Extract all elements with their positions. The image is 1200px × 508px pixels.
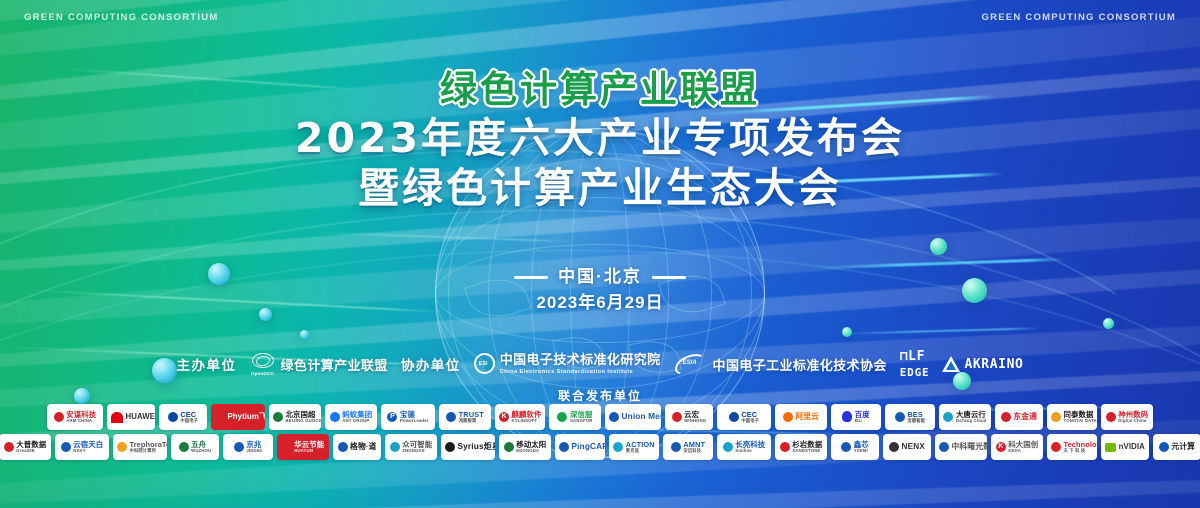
sponsor-logo-chip[interactable]: BES宝德智能 <box>885 404 935 430</box>
sponsor-name-en: ZHONGKE <box>402 449 432 454</box>
sponsor-name-en: WUZHOU <box>191 449 211 454</box>
sponsor-logo-chip[interactable]: PingCAP <box>555 434 605 460</box>
sponsor-logo-chip[interactable]: 华云节能HUAYUN <box>277 434 329 460</box>
cesi-mark-text: ESI <box>479 361 488 367</box>
sponsor-name-en: JING60 <box>246 449 262 454</box>
sponsor-logo-chip[interactable]: K麒麟软件KYLINSOFT <box>495 404 545 430</box>
sponsor-name: HUAWEI <box>126 413 156 421</box>
sponsor-name-en: TONGTAI DATA <box>1064 419 1097 424</box>
sponsor-logo-mark <box>215 412 225 422</box>
sponsor-logo-mark <box>282 442 292 452</box>
sponsor-logo-chip[interactable]: 众可智能ZHONGKE <box>385 434 437 460</box>
sponsor-name-en: SANGFOR <box>570 419 593 424</box>
decorative-sphere <box>1103 318 1114 329</box>
sponsor-name-en: 中国电子 <box>180 419 198 424</box>
sponsor-logo-mark <box>168 412 178 422</box>
sponsor-name: Syrius炬星 <box>458 443 496 452</box>
sponsor-logo-mark <box>672 412 682 422</box>
sponsor-logo-chip[interactable]: NENX <box>883 434 931 460</box>
sponsor-logo-chip[interactable]: 安谋科技ARM CHINA <box>47 404 103 430</box>
sponsor-logo-mark <box>446 412 456 422</box>
sponsor-name-en: PowerLeader <box>400 419 429 424</box>
sponsor-logo-mark <box>445 442 455 452</box>
sponsor-name-en: 爱克信 <box>626 449 655 454</box>
dash-right <box>652 276 686 279</box>
cesi-name-cn: 中国电子技术标准化研究院 <box>500 353 661 368</box>
sponsor-logo-chip[interactable]: 中科曙光数据 <box>935 434 987 460</box>
sponsor-logo-chip[interactable]: HUAWEI <box>107 404 155 430</box>
lfedge-line-2: EDGE <box>900 366 930 379</box>
sponsor-logo-mark <box>330 412 340 422</box>
title-line-3: 暨绿色计算产业生态大会 <box>0 164 1200 212</box>
sponsor-logo-chip[interactable]: 阿里云 <box>775 404 827 430</box>
sponsor-name-en: 安迈科技 <box>683 449 705 454</box>
title-line-1: 绿色计算产业联盟 <box>0 68 1200 112</box>
sponsor-logo-chip[interactable]: 大唐云行DaTang Cloud <box>939 404 991 430</box>
header-label-left: GREEN COMPUTING CONSORTIUM <box>24 12 219 23</box>
sponsor-logo-chip[interactable]: 京兆JING60 <box>223 434 273 460</box>
lfedge-logo: ⊓LF EDGE <box>900 348 930 380</box>
sponsor-logo-chip[interactable]: 长亮科技Sunline <box>717 434 771 460</box>
decorative-sphere <box>842 327 852 337</box>
title-line-2: 2023年度六大产业专项发布会 <box>0 114 1200 162</box>
sponsor-logo-mark <box>61 442 71 452</box>
cesi-name-en: China Electronics Standardization Instit… <box>500 369 661 375</box>
sponsor-name: 东金通 <box>1013 413 1037 421</box>
sponsor-logo-chip[interactable]: 五舟WUZHOU <box>171 434 219 460</box>
event-date: 2023年6月29日 <box>0 288 1200 313</box>
sponsor-logo-mark <box>1001 412 1011 422</box>
host-logo-opengcc: OpenGCC 绿色计算产业联盟 <box>250 352 388 376</box>
sponsor-logo-mark <box>1106 412 1116 422</box>
sponsor-name-en: 天 下 科 技 <box>1064 449 1098 454</box>
sponsor-name: 格物·道 <box>350 443 376 451</box>
sponsor-name-en: 鸿图智算 <box>459 419 484 424</box>
sponsor-logo-chip[interactable]: Phytium飞腾 <box>211 404 265 430</box>
sponsor-logo-mark <box>889 442 899 452</box>
sponsor-logo-mark <box>1051 412 1061 422</box>
sponsor-name-en: Digital China <box>1118 419 1148 424</box>
sponsor-logo-chip[interactable]: 深信服SANGFOR <box>549 404 601 430</box>
sponsor-logo-mark <box>234 442 244 452</box>
sponsor-logo-chip[interactable]: 云宿天白NSKY <box>55 434 109 460</box>
sponsor-name-en: Bai <box>855 419 870 424</box>
sponsor-logo-chip[interactable]: 蚂蚁集团ANT GROUP <box>325 404 377 430</box>
sponsor-logo-chip[interactable]: 东金通 <box>995 404 1043 430</box>
sponsor-logo-mark <box>609 412 619 422</box>
sponsor-logo-mark <box>841 442 851 452</box>
sponsor-logo-mark <box>179 442 189 452</box>
sponsor-name-en: 中国电子 <box>741 419 759 424</box>
sponsor-logo-mark <box>1159 442 1169 452</box>
sponsor-logo-chip[interactable]: 移动太阳EDONGDA <box>499 434 551 460</box>
sponsor-logo-chip[interactable]: 元计算 <box>1153 434 1200 460</box>
dash-left <box>514 276 548 279</box>
sponsor-logo-mark <box>54 412 64 422</box>
sponsor-logo-mark <box>783 412 793 422</box>
sponsor-name: nVIDIA <box>1119 443 1145 451</box>
cesi-c-icon: ESI <box>474 353 495 374</box>
sponsor-logo-chip[interactable]: TRUST鸿图智算 <box>439 404 491 430</box>
sponsor-name-en: YSEMI <box>854 449 869 454</box>
sponsor-logo-mark <box>729 412 739 422</box>
cohost-logo-cesi: ESI 中国电子技术标准化研究院 China Electronics Stand… <box>474 353 661 375</box>
sponsor-name-en: KYLINSOFT <box>512 419 542 424</box>
sponsor-logo-mark <box>390 442 400 452</box>
joint-publishers-label: 联合发布单位 <box>0 387 1200 404</box>
event-location: 中国·北京 <box>558 267 642 286</box>
sponsor-logo-chip[interactable]: nVIDIA <box>1101 434 1149 460</box>
sponsor-logo-row-1: 安谋科技ARM CHINAHUAWEICEC中国电子Phytium飞腾北京国超B… <box>47 404 1153 430</box>
sponsor-name-en: SANDSTONE <box>792 449 822 454</box>
opengcc-globe-icon: OpenGCC <box>250 352 276 376</box>
sponsor-logo-chip[interactable]: Union Memory <box>605 404 661 430</box>
sponsor-logo-chip[interactable]: ACTION爱克信 <box>609 434 659 460</box>
akraino-name: AKRAINO <box>964 357 1023 372</box>
sponsor-name-en: EDONGDA <box>516 449 546 454</box>
host-name: 绿色计算产业联盟 <box>281 355 388 374</box>
sponsor-logo-chip[interactable]: P宝德PowerLeader <box>381 404 435 430</box>
sponsor-logo-chip[interactable]: Technology天 下 科 技 <box>1047 434 1097 460</box>
sponsor-name: 元计算 <box>1171 443 1195 451</box>
sponsor-logo-chip[interactable]: TrephoraTech中科院计算所 <box>113 434 167 460</box>
sponsor-name-en: WINHONG <box>684 419 706 424</box>
sponsor-logo-chip[interactable]: 百度Bai <box>831 404 881 430</box>
sponsor-logo-chip[interactable]: 大普数据GreatDB <box>0 434 51 460</box>
akraino-triangle-icon <box>942 356 960 372</box>
sponsor-name: 中科曙光数据 <box>952 443 988 451</box>
sponsor-name-en: HUAYUN <box>294 449 324 454</box>
sponsor-logo-mark: P <box>387 412 397 422</box>
sponsor-logo-mark <box>557 412 567 422</box>
host-label: 主办单位 <box>177 354 237 374</box>
sponsor-logo-chip[interactable]: Syrius炬星 <box>441 434 495 460</box>
esia-mark-text: ESIA <box>683 360 697 366</box>
sponsor-name: NENX <box>901 443 925 452</box>
sponsor-name-en: 宝德智能 <box>907 419 925 424</box>
sponsor-name-en: NSKY <box>73 449 103 454</box>
sponsor-logo-chip[interactable]: K科大国创KEDA <box>991 434 1043 460</box>
sponsor-logo-mark <box>723 442 733 452</box>
sponsor-logo-mark <box>117 442 127 452</box>
sponsor-logo-mark <box>1105 443 1116 452</box>
sponsor-logo-grid: 安谋科技ARM CHINAHUAWEICEC中国电子Phytium飞腾北京国超B… <box>0 404 1200 460</box>
sponsor-logo-row-2: 大普数据GreatDB云宿天白NSKYTrephoraTech中科院计算所五舟W… <box>0 434 1200 460</box>
cohost-label: 协办单位 <box>401 354 461 374</box>
sponsor-name-en: 中科院计算所 <box>130 449 168 454</box>
sponsor-logo-chip[interactable]: CEC中国电子 <box>159 404 207 430</box>
sponsor-logo-chip[interactable]: 北京国超BEIJING GUOCHAO <box>269 404 321 430</box>
sponsor-name: Union Memory <box>622 413 662 422</box>
sponsor-name-en: ANT GROUP <box>342 419 372 424</box>
sponsor-logo-chip[interactable]: 云宏WINHONG <box>665 404 713 430</box>
sponsor-logo-chip[interactable]: CEC中国电子 <box>717 404 771 430</box>
sponsor-name-en: DaTang Cloud <box>956 419 987 424</box>
event-location-row: 中国·北京 <box>0 262 1200 287</box>
sponsor-name-en: Sunline <box>735 449 765 454</box>
esia-name-cn: 中国电子工业标准化技术协会 <box>713 355 887 374</box>
sponsor-logo-mark <box>895 412 905 422</box>
sponsor-name-en: BEIJING GUOCHAO <box>286 419 322 424</box>
decorative-sphere <box>930 238 947 255</box>
sponsor-name: 阿里云 <box>795 413 819 421</box>
sponsor-name-en: GreatDB <box>16 449 46 454</box>
sponsor-logo-mark <box>338 442 348 452</box>
title-block: 绿色计算产业联盟 2023年度六大产业专项发布会 暨绿色计算产业生态大会 <box>0 68 1200 212</box>
sponsor-logo-mark <box>4 442 14 452</box>
sponsor-logo-mark <box>939 442 949 452</box>
sponsor-logo-chip[interactable]: 神州数码Digital China <box>1101 404 1153 430</box>
sponsor-logo-mark <box>273 412 283 422</box>
opengcc-tag: OpenGCC <box>250 371 276 376</box>
sponsor-logo-chip[interactable]: 杉岩数据SANDSTONE <box>775 434 827 460</box>
sponsor-name-en: KEDA <box>1008 449 1038 454</box>
sponsor-logo-mark <box>943 412 953 422</box>
lfedge-line-1: ⊓LF <box>900 349 925 364</box>
esia-swoosh-icon: ESIA <box>674 355 708 373</box>
decorative-sphere <box>300 330 309 339</box>
header-label-right: GREEN COMPUTING CONSORTIUM <box>981 12 1176 23</box>
sponsor-name-en: ARM CHINA <box>66 419 96 424</box>
sponsor-logo-chip[interactable]: 格物·道 <box>333 434 381 460</box>
sponsor-logo-mark <box>559 442 569 452</box>
sponsor-name: PingCAP <box>572 443 606 452</box>
sponsor-name: Phytium飞腾 <box>228 413 266 421</box>
sponsor-logo-chip[interactable]: 同泰数据TONGTAI DATA <box>1047 404 1097 430</box>
sponsor-logo-mark <box>780 442 790 452</box>
sponsor-logo-mark <box>111 412 123 423</box>
sponsor-logo-chip[interactable]: 鑫芯YSEMI <box>831 434 879 460</box>
sponsor-logo-mark <box>842 411 852 422</box>
organizer-row: 主办单位 OpenGCC 绿色计算产业联盟 协办单位 ESI 中国电子技术标准化… <box>0 348 1200 380</box>
sponsor-logo-mark: K <box>499 412 509 422</box>
akraino-logo: AKRAINO <box>942 356 1023 372</box>
sponsor-logo-mark <box>1051 442 1061 452</box>
cohost-logo-esia: ESIA 中国电子工业标准化技术协会 <box>674 355 887 374</box>
sponsor-logo-chip[interactable]: AMNT安迈科技 <box>663 434 713 460</box>
sponsor-logo-mark <box>613 442 623 452</box>
sponsor-logo-mark <box>671 442 681 452</box>
conference-banner: GREEN COMPUTING CONSORTIUM GREEN COMPUTI… <box>0 0 1200 508</box>
sponsor-logo-mark <box>504 442 514 452</box>
sponsor-logo-mark: K <box>996 442 1006 452</box>
